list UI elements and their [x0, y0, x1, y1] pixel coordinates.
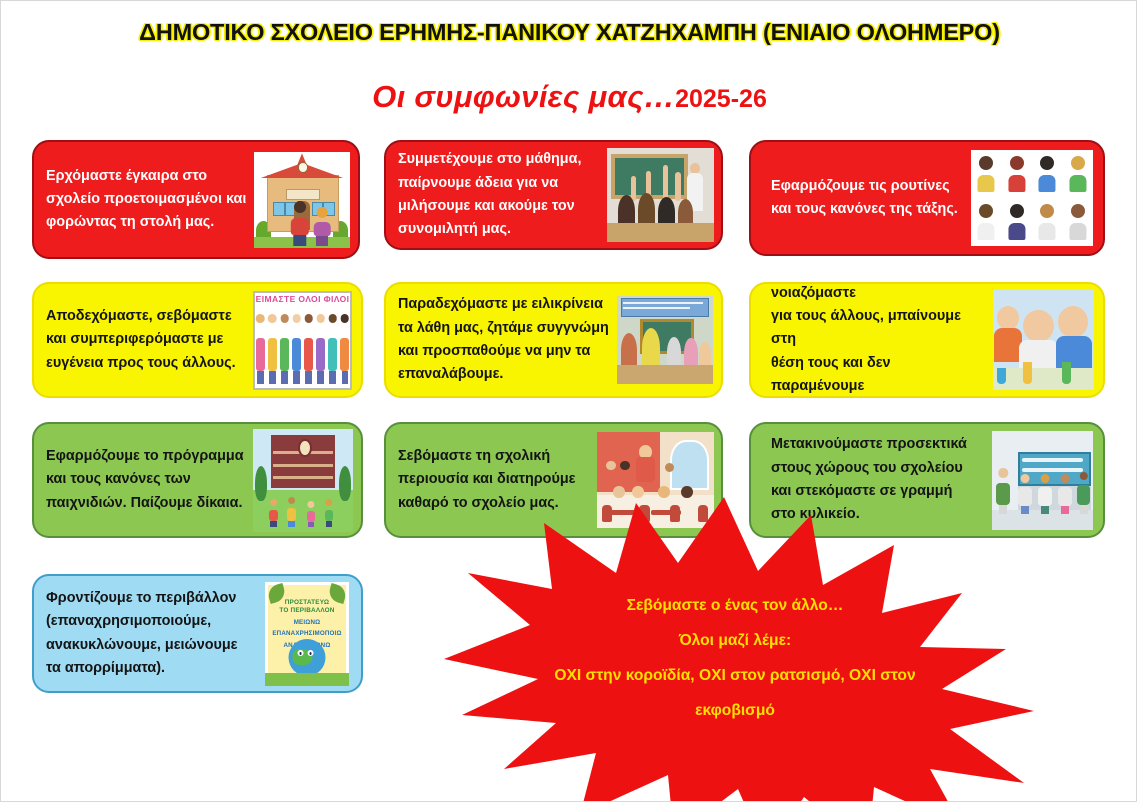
agreement-card-punctuality[interactable]: Ερχόμαστε έγκαιρα στο σχολείο προετοιμασ…	[32, 140, 360, 259]
agreement-card-admit-mistakes[interactable]: Παραδεχόμαστε με ειλικρίνεια τα λάθη μας…	[384, 282, 723, 398]
agreement-card-participation[interactable]: Συμμετέχουμε στο μάθημα, παίρνουμε άδεια…	[384, 140, 723, 250]
classroom-raised-hands-photo	[607, 148, 714, 242]
agreement-text: Παραδεχόμαστε με ειλικρίνεια τα λάθη μας…	[386, 289, 617, 390]
agreement-card-fair-play[interactable]: Εφαρμόζουμε το πρόγραμμα και τους κανόνε…	[32, 422, 363, 538]
pupils-grid-illustration	[971, 150, 1093, 246]
subtitle-main: Οι συμφωνίες μας…	[372, 79, 675, 114]
anti-bullying-starburst: Σεβόμαστε ο ένας τον άλλο… Όλοι μαζί λέμ…	[334, 497, 1137, 802]
starburst-line-3: ΟΧΙ στην κοροϊδία, ΟΧΙ στον ρατσισμό, ΟΧ…	[440, 659, 1030, 694]
page-title: ΔΗΜΟΤΙΚΟ ΣΧΟΛΕΙΟ ΕΡΗΜΗΣ-ΠΑΝΙΚΟΥ ΧΑΤΖΗΧΑΜ…	[1, 19, 1137, 46]
all-friends-poster: ΕΙΜΑΣΤΕ ΟΛΟΙ ΦΙΛΟΙ	[253, 291, 352, 390]
agreement-text: Είμαστε υπεύθυνοι, νοιαζόμαστε για τους …	[751, 282, 993, 398]
agreement-card-responsibility[interactable]: Είμαστε υπεύθυνοι, νοιαζόμαστε για τους …	[749, 282, 1105, 398]
page-subtitle: Οι συμφωνίες μας…2025-26	[1, 79, 1137, 115]
agreement-text: Αποδεχόμαστε, σεβόμαστε και συμπεριφερόμ…	[34, 301, 253, 379]
poster-page: ΔΗΜΟΤΙΚΟ ΣΧΟΛΕΙΟ ΕΡΗΜΗΣ-ΠΑΝΙΚΟΥ ΧΑΤΖΗΧΑΜ…	[0, 0, 1137, 802]
agreement-card-environment[interactable]: Φροντίζουμε το περιβάλλον (επαναχρησιμοπ…	[32, 574, 363, 693]
starburst-line-4: εκφοβισμό	[440, 694, 1030, 729]
agreement-text: Φροντίζουμε το περιβάλλον (επαναχρησιμοπ…	[34, 583, 265, 684]
agreement-text: Εφαρμόζουμε το πρόγραμμα και τους κανόνε…	[34, 441, 253, 519]
classroom-projector-photo	[617, 296, 713, 384]
agreement-card-class-rules[interactable]: Εφαρμόζουμε τις ρουτίνες και τους κανόνε…	[749, 140, 1105, 256]
agreement-card-respect-others[interactable]: Αποδεχόμαστε, σεβόμαστε και συμπεριφερόμ…	[32, 282, 363, 398]
subtitle-year: 2025-26	[675, 85, 767, 113]
poster-caption: ΕΙΜΑΣΤΕ ΟΛΟΙ ΦΙΛΟΙ	[253, 294, 352, 304]
agreement-text: Συμμετέχουμε στο μάθημα, παίρνουμε άδεια…	[386, 144, 607, 245]
smiling-pupils-photo	[993, 290, 1094, 390]
starburst-line-2: Όλοι μαζί λέμε:	[440, 624, 1030, 659]
agreement-text: Εφαρμόζουμε τις ρουτίνες και τους κανόνε…	[751, 171, 971, 226]
school-building-illustration	[254, 152, 350, 248]
starburst-message: Σεβόμαστε ο ένας τον άλλο… Όλοι μαζί λέμ…	[440, 589, 1030, 729]
starburst-line-1: Σεβόμαστε ο ένας τον άλλο…	[440, 589, 1030, 624]
agreement-text: Ερχόμαστε έγκαιρα στο σχολείο προετοιμασ…	[34, 161, 254, 239]
